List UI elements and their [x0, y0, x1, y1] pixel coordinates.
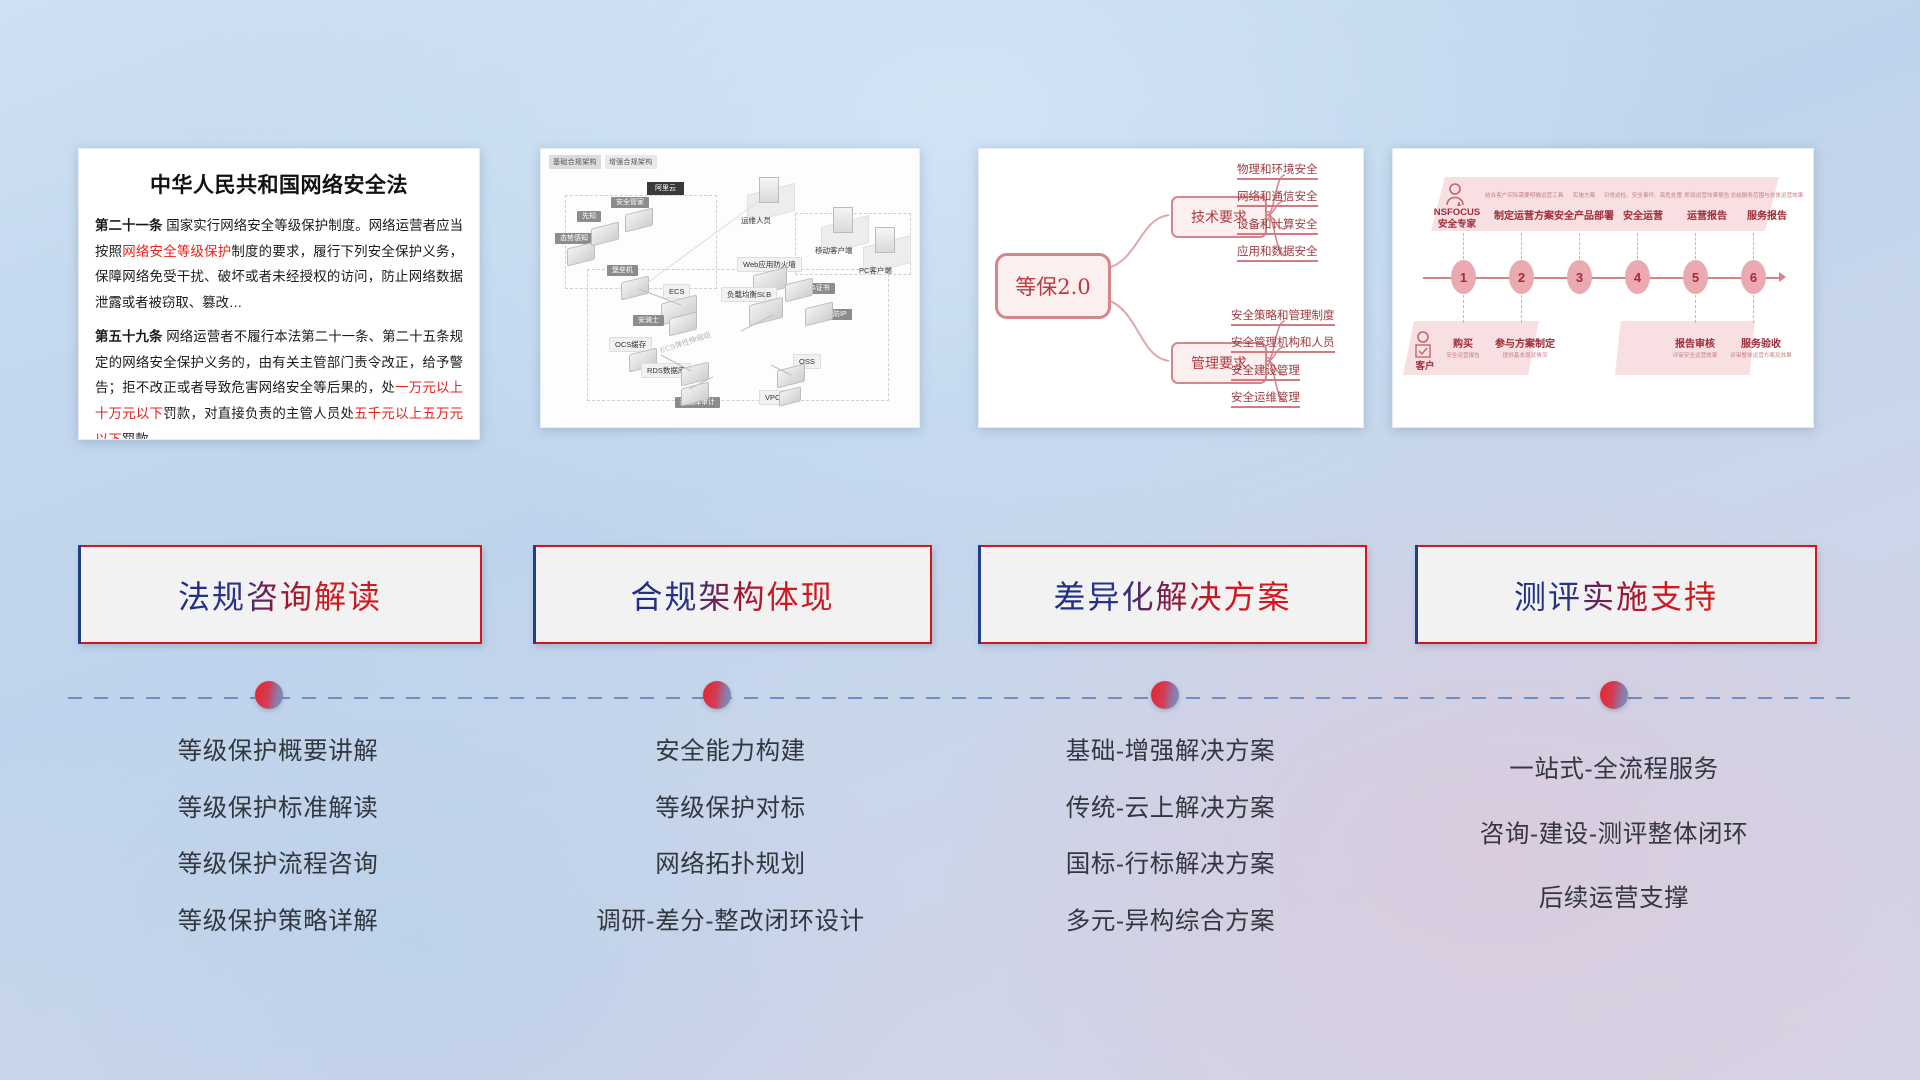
timeline-dashed-line	[68, 697, 1850, 699]
article-21-highlight: 网络安全等级保护	[122, 244, 231, 259]
timeline-step-dot-1[interactable]: 1	[1451, 260, 1476, 294]
tick-5	[1695, 233, 1697, 259]
mindmap-leaf-construction-mgmt: 安全建设管理	[1231, 362, 1300, 381]
section-title-box-3[interactable]: 差异化解决方案	[978, 545, 1367, 644]
tick-6	[1753, 233, 1755, 259]
tick-c4	[1753, 295, 1755, 323]
customer-step-sub-4: 评审整体运营方案及效果	[1723, 351, 1799, 359]
customer-step-title-3: 报告审核	[1657, 335, 1733, 350]
article-59-label: 第五十九条	[95, 329, 162, 344]
node-situational-awareness: 态势感知	[555, 233, 593, 243]
section-title-label-2: 合规架构体现	[630, 572, 834, 618]
mindmap-root-node: 等保2.0	[995, 253, 1111, 319]
mindmap-leaf-org-personnel: 安全管理机构和人员	[1231, 334, 1335, 353]
list-item: 等级保护概要讲解	[78, 740, 478, 765]
dengbao-mindmap: 等保2.0 技术要求 物理和环境安全 网络和通信安全 设备和计算安全 应用和数据…	[979, 149, 1363, 427]
customer-step-title-2: 参与方案制定	[1487, 335, 1563, 350]
tick-3	[1579, 233, 1581, 259]
slide-canvas: 中华人民共和国网络安全法 第二十一条 国家实行网络安全等级保护制度。网络运营者应…	[0, 0, 1920, 1080]
node-security-butler: 安全管家	[611, 197, 649, 207]
tick-4	[1637, 233, 1639, 259]
timeline-marker-4[interactable]	[1600, 681, 1628, 709]
node-mobile-client: 移动客户端	[815, 245, 853, 256]
node-bastion-host: 堡垒机	[607, 265, 638, 275]
list-item: 等级保护流程咨询	[78, 853, 478, 878]
list-item: 传统-云上解决方案	[978, 797, 1363, 822]
mindmap-leaf-network-comm: 网络和通信安全	[1237, 188, 1318, 207]
node-ocs-cache: OCS缓存	[609, 339, 652, 350]
tick-1	[1463, 233, 1465, 259]
article-21-label: 第二十一条	[95, 218, 162, 233]
section-title-box-2[interactable]: 合规架构体现	[533, 545, 932, 644]
customer-label: 客户	[1407, 361, 1443, 373]
expert-label: NSFOCUS 安全专家	[1429, 207, 1485, 231]
list-item: 网络拓扑规划	[533, 853, 928, 878]
server-mobile-client	[833, 207, 853, 233]
customer-step-sub-3: 评审安全运营效果	[1657, 351, 1733, 359]
node-ops-staff: 运维人员	[741, 215, 771, 226]
law-article-21: 第二十一条 国家实行网络安全等级保护制度。网络运营者应当按照网络安全等级保护制度…	[95, 213, 463, 316]
cloud-architecture-card: 基础合规架构 增强合规架构 阿里云 态势感知 先知 安全管家 堡垒机 ECS	[540, 148, 920, 428]
tick-c2	[1521, 295, 1523, 323]
nsfocus-service-flow: NSFOCUS 安全专家 客户 1 2 3 4 5 6	[1393, 149, 1813, 427]
architecture-tabs: 基础合规架构 增强合规架构	[549, 155, 657, 169]
nsfocus-timeline-card: NSFOCUS 安全专家 客户 1 2 3 4 5 6	[1392, 148, 1814, 428]
tick-2	[1521, 233, 1523, 259]
section-detail-lists: 等级保护概要讲解 等级保护标准解读 等级保护流程咨询 等级保护策略详解 安全能力…	[0, 740, 1920, 970]
article-59-text-c: 罚款。	[122, 432, 162, 440]
detail-list-1: 等级保护概要讲解 等级保护标准解读 等级保护流程咨询 等级保护策略详解	[78, 740, 478, 966]
law-card-body: 中华人民共和国网络安全法 第二十一条 国家实行网络安全等级保护制度。网络运营者应…	[79, 149, 479, 439]
section-title-label-3: 差异化解决方案	[1053, 572, 1291, 618]
node-anqishi: 安骑士	[633, 315, 664, 325]
mindmap-leaf-physical-env: 物理和环境安全	[1237, 161, 1318, 180]
customer-step-title-4: 服务验收	[1723, 335, 1799, 350]
list-item: 咨询-建设-测评整体闭环	[1415, 823, 1813, 848]
image-card-row: 中华人民共和国网络安全法 第二十一条 国家实行网络安全等级保护制度。网络运营者应…	[0, 148, 1920, 444]
timeline-step-dot-5[interactable]: 5	[1683, 260, 1708, 294]
timeline-marker-3[interactable]	[1151, 681, 1179, 709]
mindmap-leaf-device-compute: 设备和计算安全	[1237, 216, 1318, 235]
server-ops-staff	[759, 177, 779, 203]
node-xianzhi: 先知	[577, 211, 601, 221]
section-title-box-1[interactable]: 法规咨询解读	[78, 545, 482, 644]
article-59-text-b: 罚款，对直接负责的主管人员处	[163, 406, 354, 421]
expert-step-sub-6: 总结服务范围与总体运营效果	[1723, 191, 1811, 199]
list-item: 安全能力构建	[533, 740, 928, 765]
list-item: 国标-行标解决方案	[978, 853, 1363, 878]
mindmap-leaf-app-data: 应用和数据安全	[1237, 243, 1318, 262]
tick-c1	[1463, 295, 1465, 323]
tab-enhanced-architecture[interactable]: 增强合规架构	[605, 155, 657, 169]
customer-step-title-1: 购买	[1439, 335, 1487, 350]
law-card: 中华人民共和国网络安全法 第二十一条 国家实行网络安全等级保护制度。网络运营者应…	[78, 148, 480, 440]
timeline-marker-2[interactable]	[703, 681, 731, 709]
list-item: 等级保护标准解读	[78, 797, 478, 822]
timeline-step-dot-4[interactable]: 4	[1625, 260, 1650, 294]
list-item: 等级保护策略详解	[78, 910, 478, 935]
section-title-row: 法规咨询解读 合规架构体现 差异化解决方案 测评实施支持	[0, 545, 1920, 645]
node-slb: 负载均衡SLB	[721, 289, 777, 300]
list-item: 后续运营支撑	[1415, 887, 1813, 912]
section-title-label-1: 法规咨询解读	[178, 572, 382, 618]
node-ecs: ECS	[663, 287, 690, 296]
node-pc-client: PC客户端	[859, 265, 892, 276]
server-pc-client	[875, 227, 895, 253]
customer-step-sub-2: 提供基本现状情况	[1487, 351, 1563, 359]
cloud-architecture-diagram: 基础合规架构 增强合规架构 阿里云 态势感知 先知 安全管家 堡垒机 ECS	[541, 149, 919, 427]
detail-list-4: 一站式-全流程服务 咨询-建设-测评整体闭环 后续运营支撑	[1415, 758, 1813, 952]
law-card-title: 中华人民共和国网络安全法	[95, 169, 463, 199]
timeline-strip	[0, 692, 1920, 722]
mindmap-card: 等保2.0 技术要求 物理和环境安全 网络和通信安全 设备和计算安全 应用和数据…	[978, 148, 1364, 428]
detail-list-3: 基础-增强解决方案 传统-云上解决方案 国标-行标解决方案 多元-异构综合方案	[978, 740, 1363, 966]
tab-basic-architecture[interactable]: 基础合规架构	[549, 155, 601, 169]
timeline-marker-1[interactable]	[255, 681, 283, 709]
tick-c3	[1695, 295, 1697, 323]
detail-list-2: 安全能力构建 等级保护对标 网络拓扑规划 调研-差分-整改闭环设计	[533, 740, 928, 966]
timeline-step-dot-3[interactable]: 3	[1567, 260, 1592, 294]
section-title-box-4[interactable]: 测评实施支持	[1415, 545, 1817, 644]
list-item: 等级保护对标	[533, 797, 928, 822]
list-item: 调研-差分-整改闭环设计	[533, 910, 928, 935]
expert-step-title-6: 服务报告	[1723, 207, 1811, 222]
law-article-59: 第五十九条 网络运营者不履行本法第二十一条、第二十五条规定的网络安全保护义务的，…	[95, 324, 463, 440]
customer-step-sub-1: 安全运营报告	[1439, 351, 1487, 359]
list-item: 一站式-全流程服务	[1415, 758, 1813, 783]
node-waf: Web应用防火墙	[737, 259, 802, 270]
mindmap-leaf-ops-mgmt: 安全运维管理	[1231, 389, 1300, 408]
cloud-label-chip: 阿里云	[647, 183, 684, 193]
mindmap-leaf-policy-system: 安全策略和管理制度	[1231, 307, 1335, 326]
section-title-label-4: 测评实施支持	[1514, 572, 1718, 618]
timeline-step-dot-2[interactable]: 2	[1509, 260, 1534, 294]
list-item: 基础-增强解决方案	[978, 740, 1363, 765]
timeline-step-dot-6[interactable]: 6	[1741, 260, 1766, 294]
list-item: 多元-异构综合方案	[978, 910, 1363, 935]
